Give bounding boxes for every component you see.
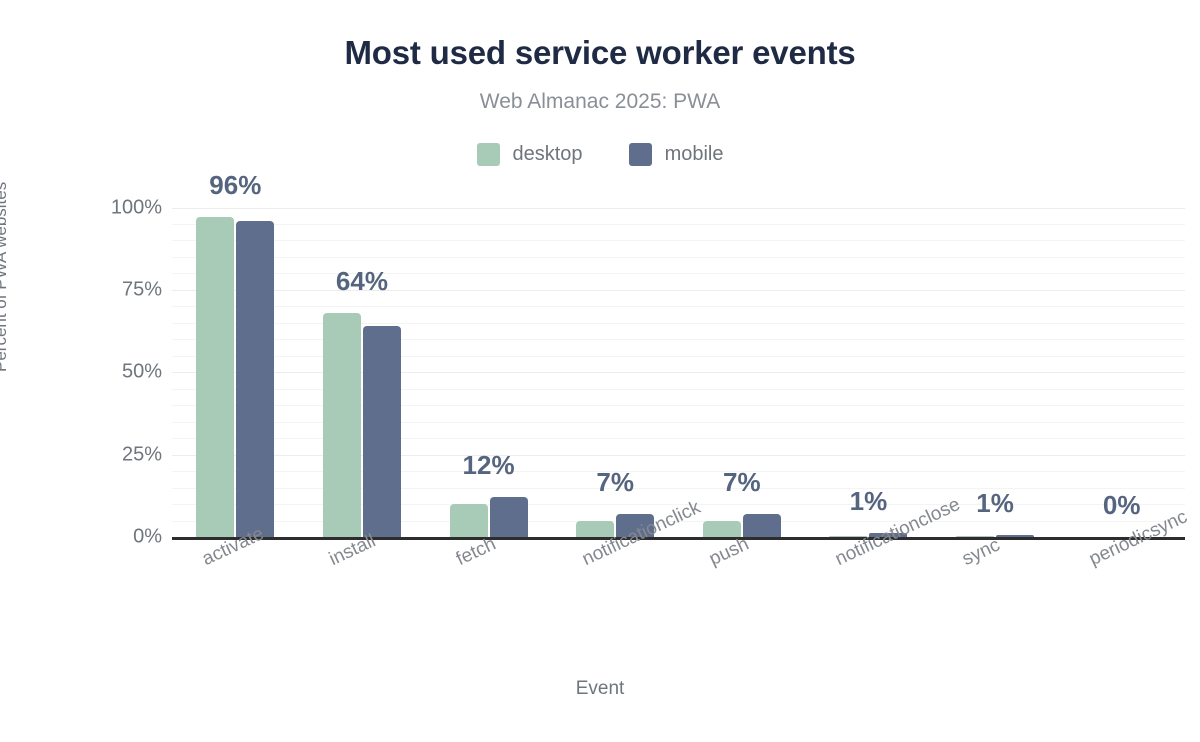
x-axis-title: Event <box>0 678 1200 700</box>
gridline <box>172 257 1185 258</box>
gridline <box>172 240 1185 241</box>
bar-desktop-fetch[interactable] <box>450 504 488 537</box>
y-axis-tick-label: 25% <box>42 443 162 466</box>
gridline <box>172 224 1185 225</box>
data-label-push: 7% <box>723 467 761 498</box>
bar-mobile-activate[interactable] <box>236 221 274 537</box>
bar-mobile-push[interactable] <box>743 514 781 537</box>
y-axis-tick-label: 100% <box>42 196 162 219</box>
plot-area <box>172 208 1185 538</box>
legend-swatch-desktop <box>477 143 500 166</box>
bar-mobile-install[interactable] <box>363 326 401 537</box>
chart-legend: desktop mobile <box>0 143 1200 166</box>
x-axis-baseline <box>172 537 1185 540</box>
gridline <box>172 290 1185 291</box>
gridline <box>172 306 1185 307</box>
data-label-notificationclick: 7% <box>596 467 634 498</box>
y-axis-title: Percent of PWA websites <box>0 182 11 372</box>
legend-swatch-mobile <box>629 143 652 166</box>
legend-label-desktop: desktop <box>513 143 583 166</box>
data-label-notificationclose: 1% <box>850 486 888 517</box>
gridline <box>172 208 1185 209</box>
gridline <box>172 273 1185 274</box>
bar-desktop-install[interactable] <box>323 313 361 537</box>
bar-desktop-push[interactable] <box>703 521 741 537</box>
bar-chart: Most used service worker events Web Alma… <box>0 0 1200 742</box>
legend-label-mobile: mobile <box>665 143 724 166</box>
bar-mobile-fetch[interactable] <box>490 497 528 537</box>
data-label-activate: 96% <box>209 170 261 201</box>
bar-desktop-activate[interactable] <box>196 217 234 537</box>
data-label-periodicsync: 0% <box>1103 490 1141 521</box>
chart-title: Most used service worker events <box>0 34 1200 72</box>
data-label-fetch: 12% <box>463 450 515 481</box>
y-axis-tick-label: 0% <box>42 526 162 549</box>
legend-item-desktop[interactable]: desktop <box>477 143 583 166</box>
y-axis-tick-label: 50% <box>42 361 162 384</box>
legend-item-mobile[interactable]: mobile <box>629 143 724 166</box>
data-label-install: 64% <box>336 266 388 297</box>
chart-subtitle: Web Almanac 2025: PWA <box>0 90 1200 114</box>
y-axis-tick-label: 75% <box>42 278 162 301</box>
bar-desktop-notificationclick[interactable] <box>576 521 614 537</box>
data-label-sync: 1% <box>976 488 1014 519</box>
